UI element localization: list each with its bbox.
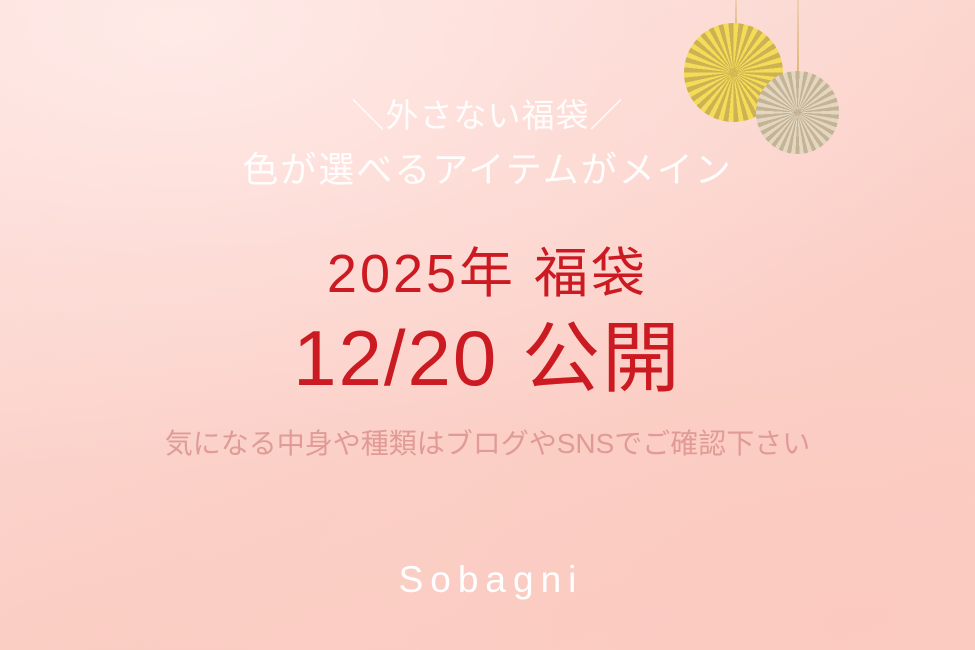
brand-logo: Sobagni [0,560,975,601]
headline-release-date: 12/20 公開 [0,318,975,400]
catchcopy-line-1: ＼外さない福袋／ [0,96,975,136]
promotional-banner: ＼外さない福袋／ 色が選べるアイテムがメイン 2025年 福袋 12/20 公開… [0,0,975,650]
fan-string-beige [797,0,799,76]
subtitle-text: 気になる中身や種類はブログやSNSでご確認下さい [0,427,975,461]
catchcopy-line-2: 色が選べるアイテムがメイン [0,148,975,191]
headline-year: 2025年 福袋 [0,246,975,303]
